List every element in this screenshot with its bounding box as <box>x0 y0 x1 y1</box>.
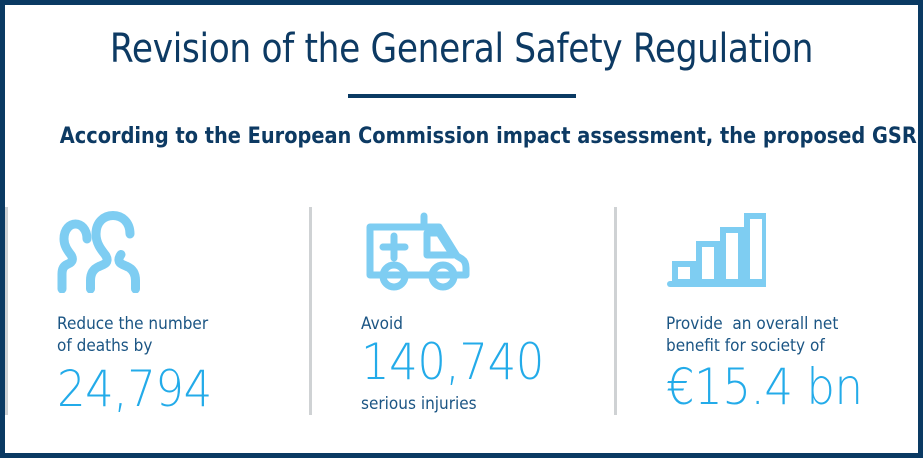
bar-chart-icon <box>666 201 918 293</box>
column-divider <box>5 207 8 415</box>
poster-header: Revision of the General Safety Regulatio… <box>5 5 918 149</box>
two-people-icon <box>57 201 309 293</box>
title-divider-rule <box>348 94 576 98</box>
stat-column-net-benefit: Provide an overall net benefit for socie… <box>614 201 918 425</box>
stat-column-deaths: Reduce the number of deaths by 24,794 <box>5 201 309 425</box>
stat-caption-deaths: Reduce the number of deaths by <box>57 313 284 358</box>
page-subtitle: According to the European Commission imp… <box>60 124 863 149</box>
stat-value-deaths: 24,794 <box>57 364 284 414</box>
stat-column-injuries: Avoid 140,740 serious injuries <box>309 201 613 425</box>
infographic-poster: Revision of the General Safety Regulatio… <box>0 0 923 458</box>
stat-caption-net-benefit: Provide an overall net benefit for socie… <box>666 313 893 358</box>
stat-value-net-benefit: €15.4 bn <box>666 362 893 412</box>
page-title: Revision of the General Safety Regulatio… <box>69 27 854 72</box>
column-divider <box>309 207 312 415</box>
stat-caption-injuries-suffix: serious injuries <box>361 393 588 415</box>
stat-caption-injuries: Avoid <box>361 313 588 335</box>
ambulance-icon <box>361 201 613 293</box>
column-divider <box>614 207 617 415</box>
stats-columns: Reduce the number of deaths by 24,794 <box>5 201 918 425</box>
stat-value-injuries: 140,740 <box>361 337 588 387</box>
